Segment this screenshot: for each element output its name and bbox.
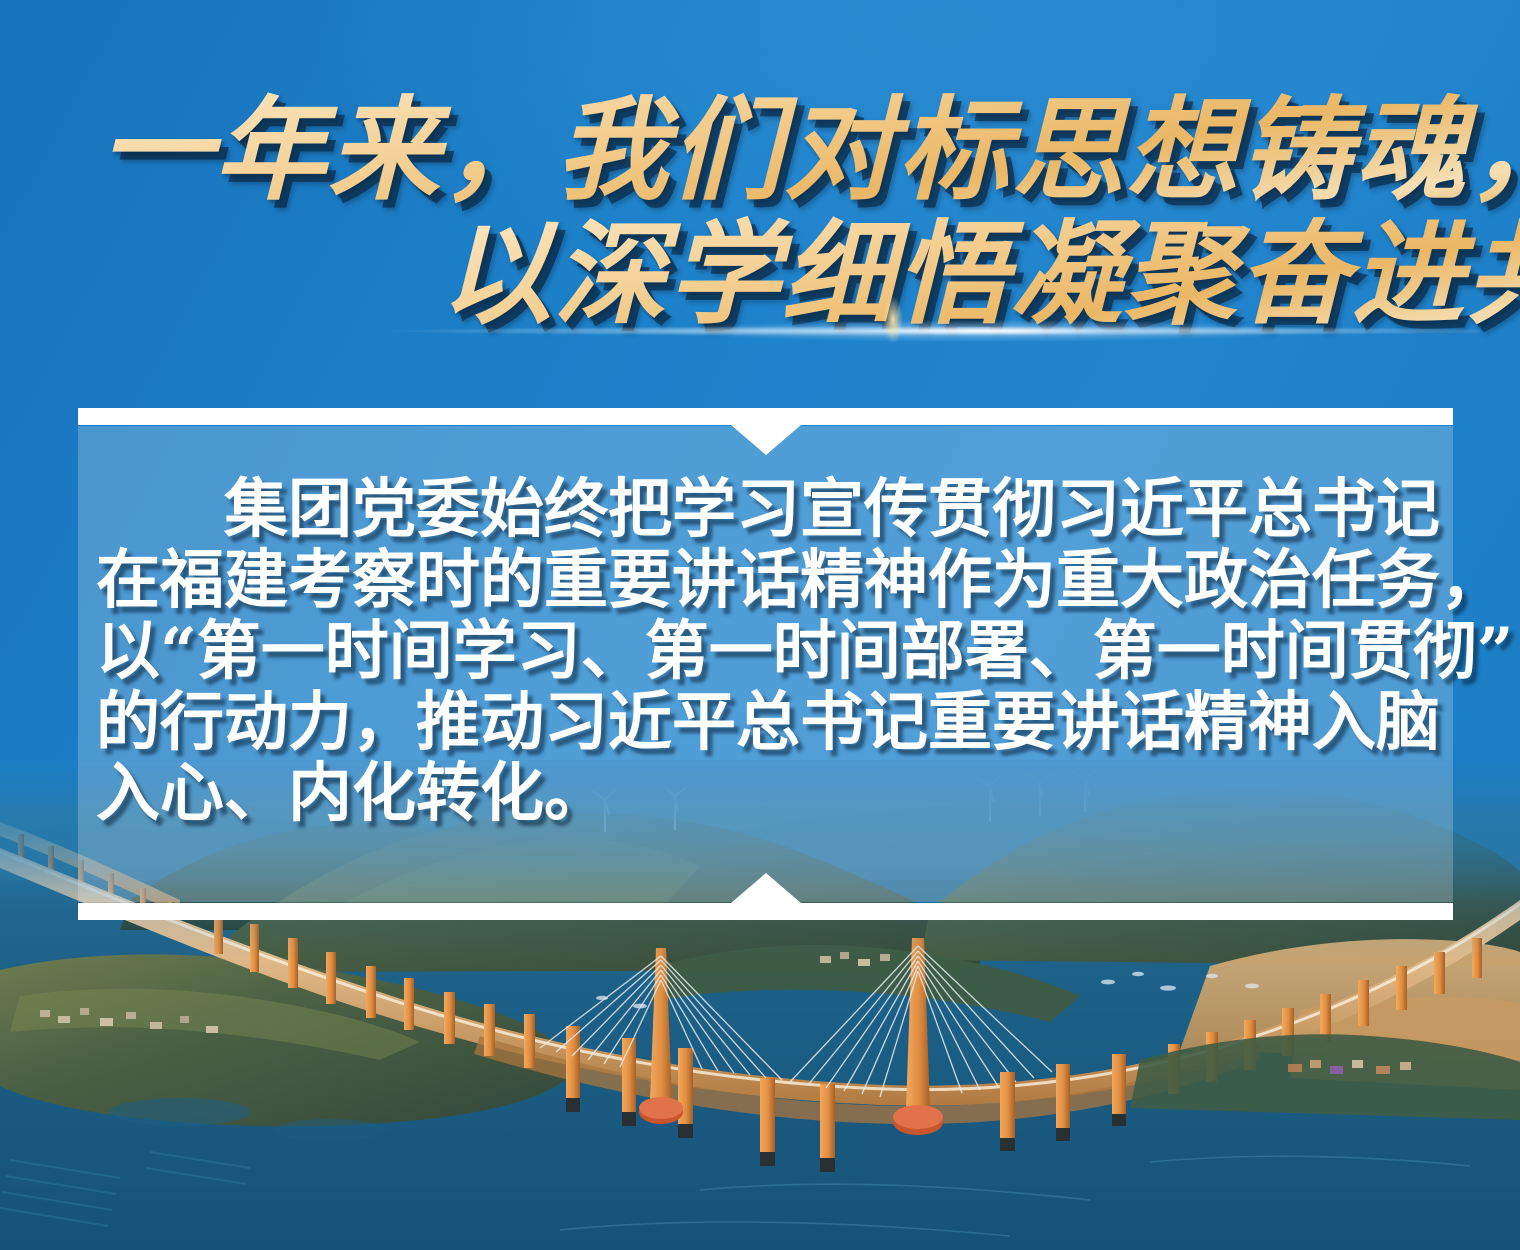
poster-canvas: 一年来，我们对标思想铸魂， 以深学细悟凝聚奋进共识 集团党委始终把学习宣传贯彻习…: [0, 0, 1520, 1250]
content-panel: 集团党委始终把学习宣传贯彻习近平总书记 在福建考察时的重要讲话精神作为重大政治任…: [78, 408, 1453, 920]
title-line-2: 以深学细悟凝聚奋进共识: [440, 216, 1520, 334]
title-line-1: 一年来，我们对标思想铸魂，: [100, 92, 1520, 210]
panel-top-rule: [78, 408, 1453, 425]
panel-bottom-rule: [78, 903, 1453, 920]
panel-bottom-notch-icon: [731, 873, 801, 903]
panel-top-notch-icon: [731, 425, 801, 455]
body-line-3: 以“第一时间学习、第一时间部署、第一时间贯彻”: [96, 616, 1436, 687]
body-line-2: 在福建考察时的重要讲话精神作为重大政治任务，: [96, 545, 1436, 616]
body-line-1: 集团党委始终把学习宣传贯彻习近平总书记: [96, 474, 1436, 545]
panel-body-text: 集团党委始终把学习宣传贯彻习近平总书记 在福建考察时的重要讲话精神作为重大政治任…: [96, 474, 1436, 829]
water-shadow-1: [110, 1098, 250, 1126]
body-line-4: 的行动力，推动习近平总书记重要讲话精神入脑: [96, 687, 1436, 758]
water-shadow-2: [275, 1119, 385, 1141]
body-line-5: 入心、内化转化。: [96, 758, 1436, 829]
poster-title: 一年来，我们对标思想铸魂， 以深学细悟凝聚奋进共识: [0, 70, 1520, 345]
